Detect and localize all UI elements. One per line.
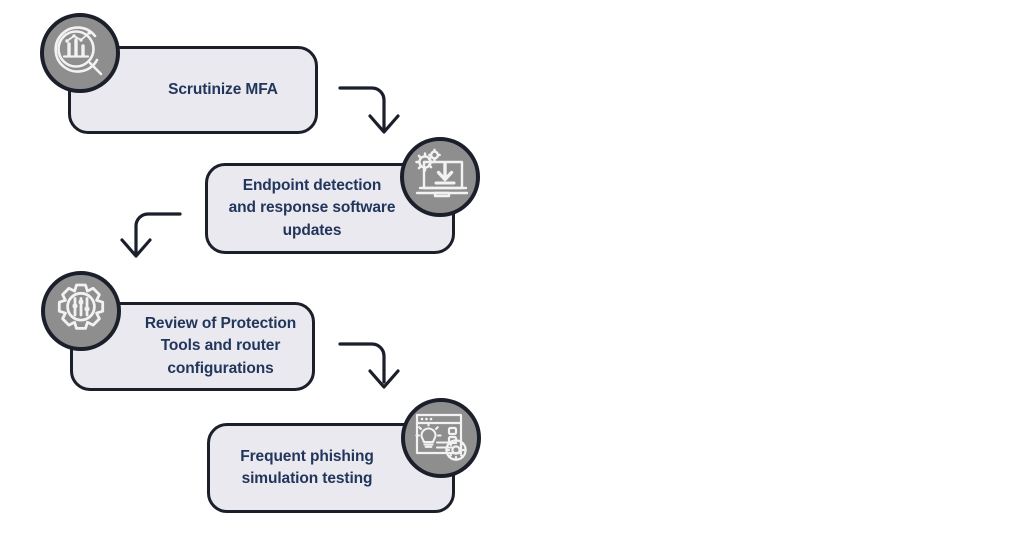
browser-lightbulb-gear-icon [401,398,481,478]
arrow-step1-to-step2 [338,78,400,140]
step-label-4: Frequent phishing simulation testing [226,446,388,491]
step-label-2: Endpoint detection and response software… [215,175,410,242]
magnifier-bar-chart-icon [40,13,120,93]
arrow-step2-to-step3 [120,206,182,264]
gear-sliders-icon [41,271,121,351]
step-label-1: Scrutinize MFA [154,79,292,101]
step-label-3: Review of Protection Tools and router co… [131,313,310,380]
laptop-download-gears-icon [400,137,480,217]
diagram-canvas: Scrutinize MFA [0,0,1024,537]
arrow-step3-to-step4 [338,334,400,394]
